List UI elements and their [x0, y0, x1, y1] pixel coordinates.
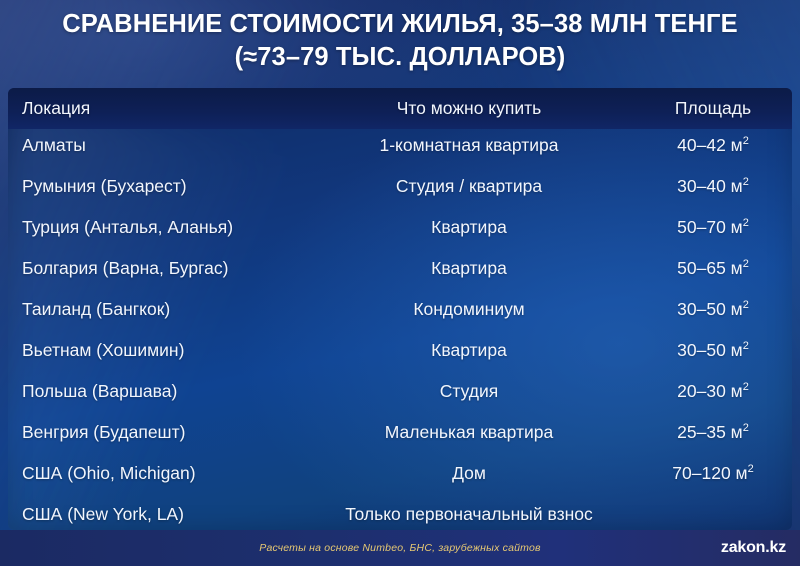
zakon-kz-logo: zakon.kz [721, 539, 786, 557]
cell-what-to-buy: Кондоминиум [304, 299, 634, 320]
table-row: США (New York, LA)Только первоначальный … [8, 494, 792, 530]
cell-area-unit-exponent: 2 [743, 381, 749, 393]
cell-area-value: 30–40 м [677, 176, 743, 196]
cell-location: Румыния (Бухарест) [8, 176, 304, 197]
cell-location: США (New York, LA) [8, 504, 304, 525]
page-title: СРАВНЕНИЕ СТОИМОСТИ ЖИЛЬЯ, 35–38 МЛН ТЕН… [0, 8, 800, 74]
table-row: Алматы1-комнатная квартира40–42 м2 [8, 125, 792, 166]
cell-location: Болгария (Варна, Бургас) [8, 258, 304, 279]
cell-area-value: 50–65 м [677, 258, 743, 278]
cell-what-to-buy: Квартира [304, 258, 634, 279]
table-row: Турция (Анталья, Аланья)Квартира50–70 м2 [8, 207, 792, 248]
table-header-row: Локация Что можно купить Площадь [8, 88, 792, 129]
table-row: Венгрия (Будапешт)Маленькая квартира25–3… [8, 412, 792, 453]
cell-what-to-buy: Маленькая квартира [304, 422, 634, 443]
cell-area-unit-exponent: 2 [743, 217, 749, 229]
cell-location: Алматы [8, 135, 304, 156]
cell-area: 70–120 м2 [634, 463, 792, 484]
cell-area-unit-exponent: 2 [743, 258, 749, 270]
cell-area-value: 30–50 м [677, 340, 743, 360]
table-row: Таиланд (Бангкок)Кондоминиум30–50 м2 [8, 289, 792, 330]
table-row: Вьетнам (Хошимин)Квартира30–50 м2 [8, 330, 792, 371]
cell-area-unit-exponent: 2 [743, 422, 749, 434]
comparison-table-panel: Локация Что можно купить Площадь Алматы1… [8, 88, 792, 530]
cell-area-unit-exponent: 2 [743, 135, 749, 147]
cell-area-unit-exponent: 2 [748, 463, 754, 475]
cell-area-value: 50–70 м [677, 217, 743, 237]
cell-area-value: 40–42 м [677, 135, 743, 155]
cell-area: 30–50 м2 [634, 340, 792, 361]
cell-area-unit-exponent: 2 [743, 340, 749, 352]
cell-area: 30–50 м2 [634, 299, 792, 320]
cell-location: Таиланд (Бангкок) [8, 299, 304, 320]
cell-area-unit-exponent: 2 [743, 176, 749, 188]
cell-area: 40–42 м2 [634, 135, 792, 156]
cell-location: США (Ohio, Michigan) [8, 463, 304, 484]
footer-bar: Расчеты на основе Numbeo, БНС, зарубежны… [0, 530, 800, 566]
footer-source-note: Расчеты на основе Numbeo, БНС, зарубежны… [0, 542, 800, 554]
cell-area: 20–30 м2 [634, 381, 792, 402]
cell-location: Турция (Анталья, Аланья) [8, 217, 304, 238]
cell-area-unit-exponent: 2 [743, 299, 749, 311]
cell-what-to-buy: Квартира [304, 340, 634, 361]
cell-area: 50–65 м2 [634, 258, 792, 279]
cell-what-to-buy: Только первоначальный взнос [304, 504, 634, 525]
cell-area-value: 70–120 м [672, 463, 747, 483]
cell-what-to-buy: Квартира [304, 217, 634, 238]
table-row: Румыния (Бухарест)Студия / квартира30–40… [8, 166, 792, 207]
column-header-location: Локация [8, 98, 304, 119]
table-row: США (Ohio, Michigan)Дом70–120 м2 [8, 453, 792, 494]
cell-area-value: 30–50 м [677, 299, 743, 319]
column-header-what-to-buy: Что можно купить [304, 98, 634, 119]
title-line-2: (≈73–79 ТЫС. ДОЛЛАРОВ) [14, 41, 786, 74]
cell-area: 30–40 м2 [634, 176, 792, 197]
cell-what-to-buy: Дом [304, 463, 634, 484]
cell-area: 25–35 м2 [634, 422, 792, 443]
title-line-1: СРАВНЕНИЕ СТОИМОСТИ ЖИЛЬЯ, 35–38 МЛН ТЕН… [14, 8, 786, 41]
cell-area-value: 20–30 м [677, 381, 743, 401]
cell-area-value: 25–35 м [677, 422, 743, 442]
cell-location: Польша (Варшава) [8, 381, 304, 402]
cell-area: 50–70 м2 [634, 217, 792, 238]
table-row: Болгария (Варна, Бургас)Квартира50–65 м2 [8, 248, 792, 289]
infographic-canvas: СРАВНЕНИЕ СТОИМОСТИ ЖИЛЬЯ, 35–38 МЛН ТЕН… [0, 0, 800, 566]
cell-what-to-buy: 1-комнатная квартира [304, 135, 634, 156]
cell-what-to-buy: Студия / квартира [304, 176, 634, 197]
column-header-area: Площадь [634, 98, 792, 119]
cell-what-to-buy: Студия [304, 381, 634, 402]
cell-location: Венгрия (Будапешт) [8, 422, 304, 443]
table-row: Польша (Варшава)Студия20–30 м2 [8, 371, 792, 412]
cell-location: Вьетнам (Хошимин) [8, 340, 304, 361]
